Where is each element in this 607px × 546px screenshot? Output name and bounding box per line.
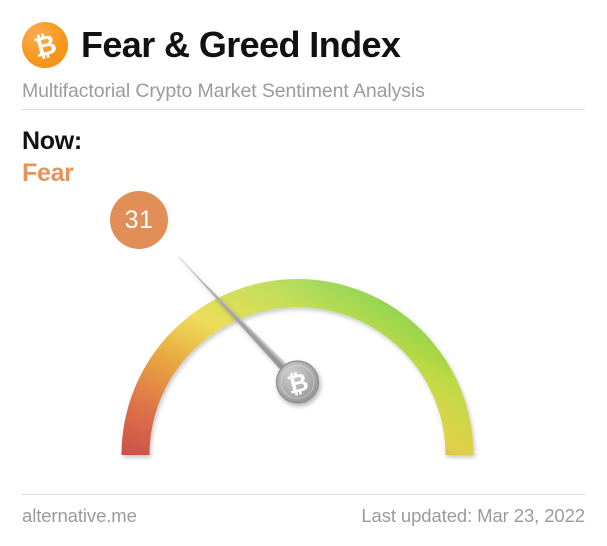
header: ₿ Fear & Greed Index Multifactorial Cryp…: [22, 18, 585, 110]
bitcoin-icon: ₿: [22, 22, 68, 68]
gauge-value: 31: [125, 208, 154, 233]
title-row: ₿ Fear & Greed Index: [22, 18, 585, 72]
last-updated-label: Last updated: Mar 23, 2022: [361, 505, 585, 527]
source-label: alternative.me: [22, 505, 137, 527]
footer: alternative.me Last updated: Mar 23, 202…: [22, 505, 585, 527]
header-divider: [22, 109, 585, 110]
gauge: ₿: [0, 178, 607, 478]
page-subtitle: Multifactorial Crypto Market Sentiment A…: [22, 79, 585, 103]
svg-text:₿: ₿: [31, 29, 60, 64]
gauge-svg: ₿: [0, 178, 607, 478]
now-label: Now:: [22, 127, 82, 156]
page-title: Fear & Greed Index: [81, 25, 400, 65]
fear-greed-index-card: ₿ Fear & Greed Index Multifactorial Cryp…: [0, 0, 607, 546]
footer-divider: [22, 494, 585, 495]
gauge-value-badge: 31: [110, 191, 168, 249]
